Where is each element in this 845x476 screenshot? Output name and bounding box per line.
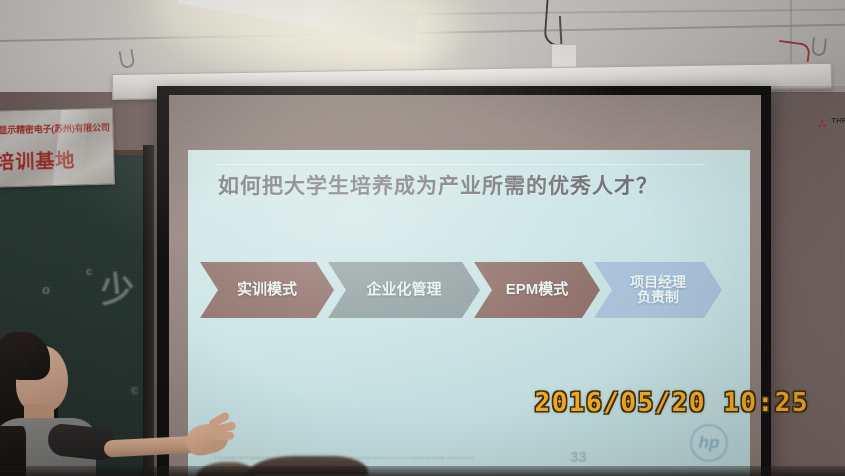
presenter [0,330,216,476]
camera-timestamp: 2016/05/20 10:25 [535,388,809,418]
classroom-photo-scene: THREELEAVES 如何把大学生培养成为产业所需的优秀人才？ 实训模式 企业… [0,0,845,476]
slide-title: 如何把大学生培养成为产业所需的优秀人才？ [218,170,658,200]
chevron-step-1-label: 实训模式 [237,282,297,298]
ceiling-cable [543,0,566,47]
wall-plaque: 显示精密电子(苏州)有限公司 培训基地 [0,107,115,187]
process-chevron-row: 实训模式 企业化管理 EPM模式 项目经理 负责制 [200,262,722,318]
projected-slide: 如何把大学生培养成为产业所需的优秀人才？ 实训模式 企业化管理 EPM模式 项目… [188,150,750,476]
plaque-line-1: 显示精密电子(苏州)有限公司 [0,121,111,137]
hp-logo-icon: hp [690,424,728,462]
presenter-finger-3 [212,432,234,441]
chevron-step-3-label: EPM模式 [506,282,569,298]
plaque-glare [53,109,90,185]
chevron-step-2-label: 企业化管理 [366,282,441,298]
chevron-step-1: 实训模式 [200,262,334,318]
chevron-step-4-label-line1: 项目经理 [630,275,686,290]
bottom-dark-strip [0,466,845,476]
slide-page-number: 33 [570,449,587,466]
chevron-step-3: EPM模式 [474,262,600,318]
chevron-step-2: 企业化管理 [328,262,480,318]
slide-title-rule [216,164,706,165]
chevron-step-4: 项目经理 负责制 [594,262,722,318]
chevron-step-4-label-line2: 负责制 [630,290,686,305]
